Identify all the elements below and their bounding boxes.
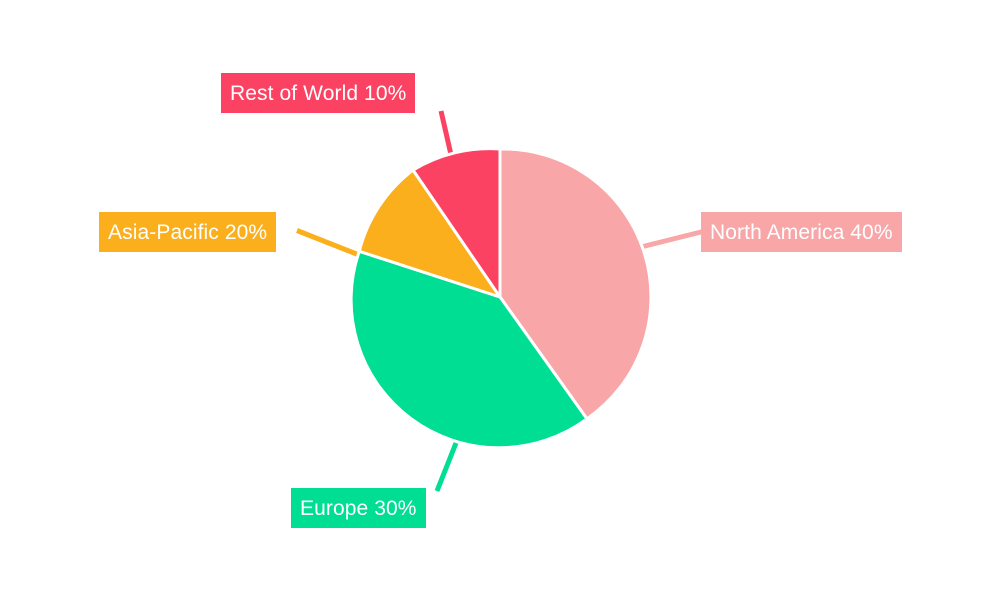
pie-label-asia-pacific-text: Asia-Pacific 20%: [108, 222, 267, 243]
pie-label-europe-text: Europe 30%: [300, 498, 417, 519]
leader-line-asia-pacific: [297, 231, 359, 256]
leader-line-europe: [437, 443, 456, 491]
pie-label-europe: Europe 30%: [291, 488, 426, 528]
pie-label-rest-of-world-text: Rest of World 10%: [230, 83, 406, 104]
leader-line-north-america: [639, 232, 703, 248]
pie-label-asia-pacific: Asia-Pacific 20%: [99, 212, 276, 252]
pie-label-north-america: North America 40%: [701, 212, 902, 252]
pie-label-north-america-text: North America 40%: [710, 222, 893, 243]
pie-chart-canvas: [0, 0, 1000, 600]
pie-chart: North America 40% Europe 30% Asia-Pacifi…: [0, 0, 1000, 600]
pie-label-rest-of-world: Rest of World 10%: [221, 73, 415, 113]
leader-line-rest-of-world: [441, 111, 452, 159]
